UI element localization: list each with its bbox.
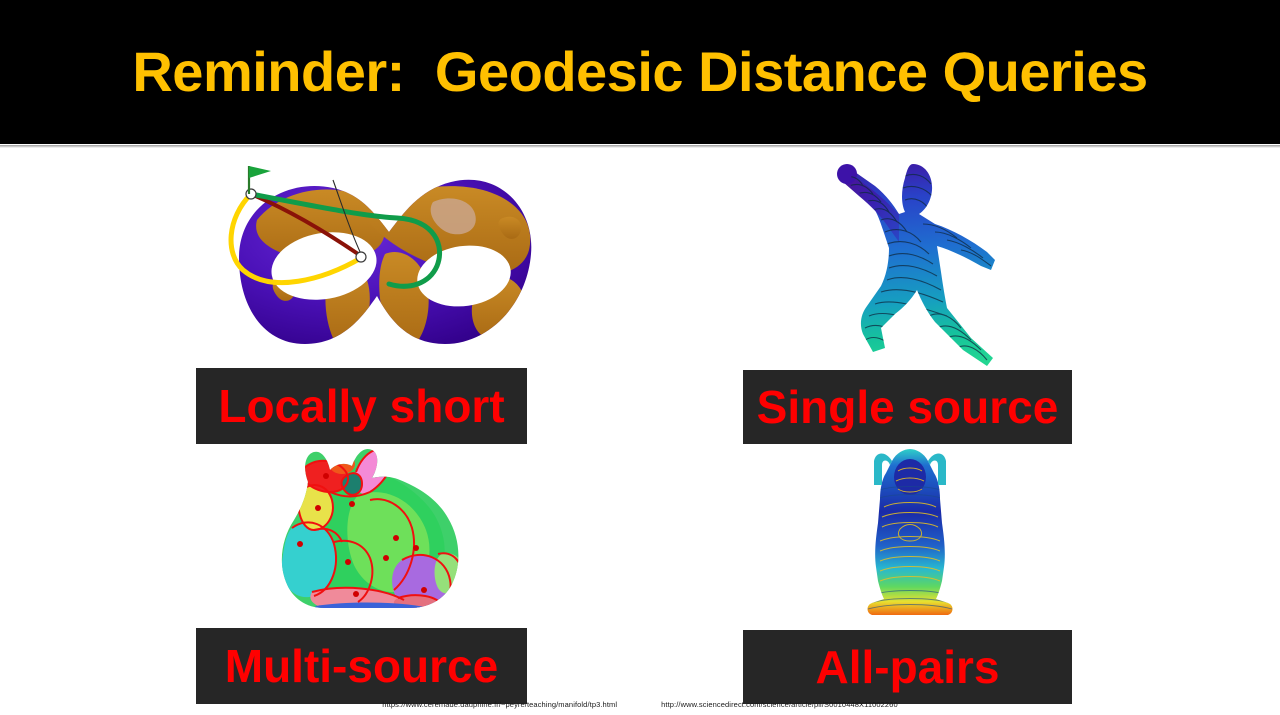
flag-icon <box>249 166 271 178</box>
geodesic-endpoint-source <box>246 189 256 199</box>
single-source-human-isolines-figure <box>795 152 1025 370</box>
source-links-footer: https://www.ceremade.dauphine.fr/~peyre/… <box>0 700 1280 715</box>
caption-label-single-source: Single source <box>757 384 1059 430</box>
page-title: Reminder: Geodesic Distance Queries <box>132 44 1147 100</box>
title-divider <box>0 145 1280 148</box>
caption-label-locally-short: Locally short <box>218 383 504 429</box>
genus2-torus-geodesics-figure <box>183 158 543 363</box>
all-pairs-buddha-isolines-figure <box>862 445 958 625</box>
caption-box-locally-short: Locally short <box>196 368 527 444</box>
title-band: Reminder: Geodesic Distance Queries <box>0 0 1280 144</box>
multi-source-bunny-voronoi-figure <box>252 442 484 628</box>
geodesic-endpoint-target <box>356 252 366 262</box>
source-link-2[interactable]: http://www.sciencedirect.com/science/art… <box>661 700 898 709</box>
caption-label-all-pairs: All-pairs <box>815 644 999 690</box>
caption-label-multi-source: Multi-source <box>225 643 498 689</box>
caption-box-all-pairs: All-pairs <box>743 630 1072 704</box>
source-link-1[interactable]: https://www.ceremade.dauphine.fr/~peyre/… <box>382 700 617 709</box>
caption-box-single-source: Single source <box>743 370 1072 444</box>
bunny-voronoi-regions <box>252 442 484 628</box>
caption-box-multi-source: Multi-source <box>196 628 527 704</box>
human-source-fist <box>837 164 857 184</box>
slide-body: Locally short <box>0 150 1280 695</box>
